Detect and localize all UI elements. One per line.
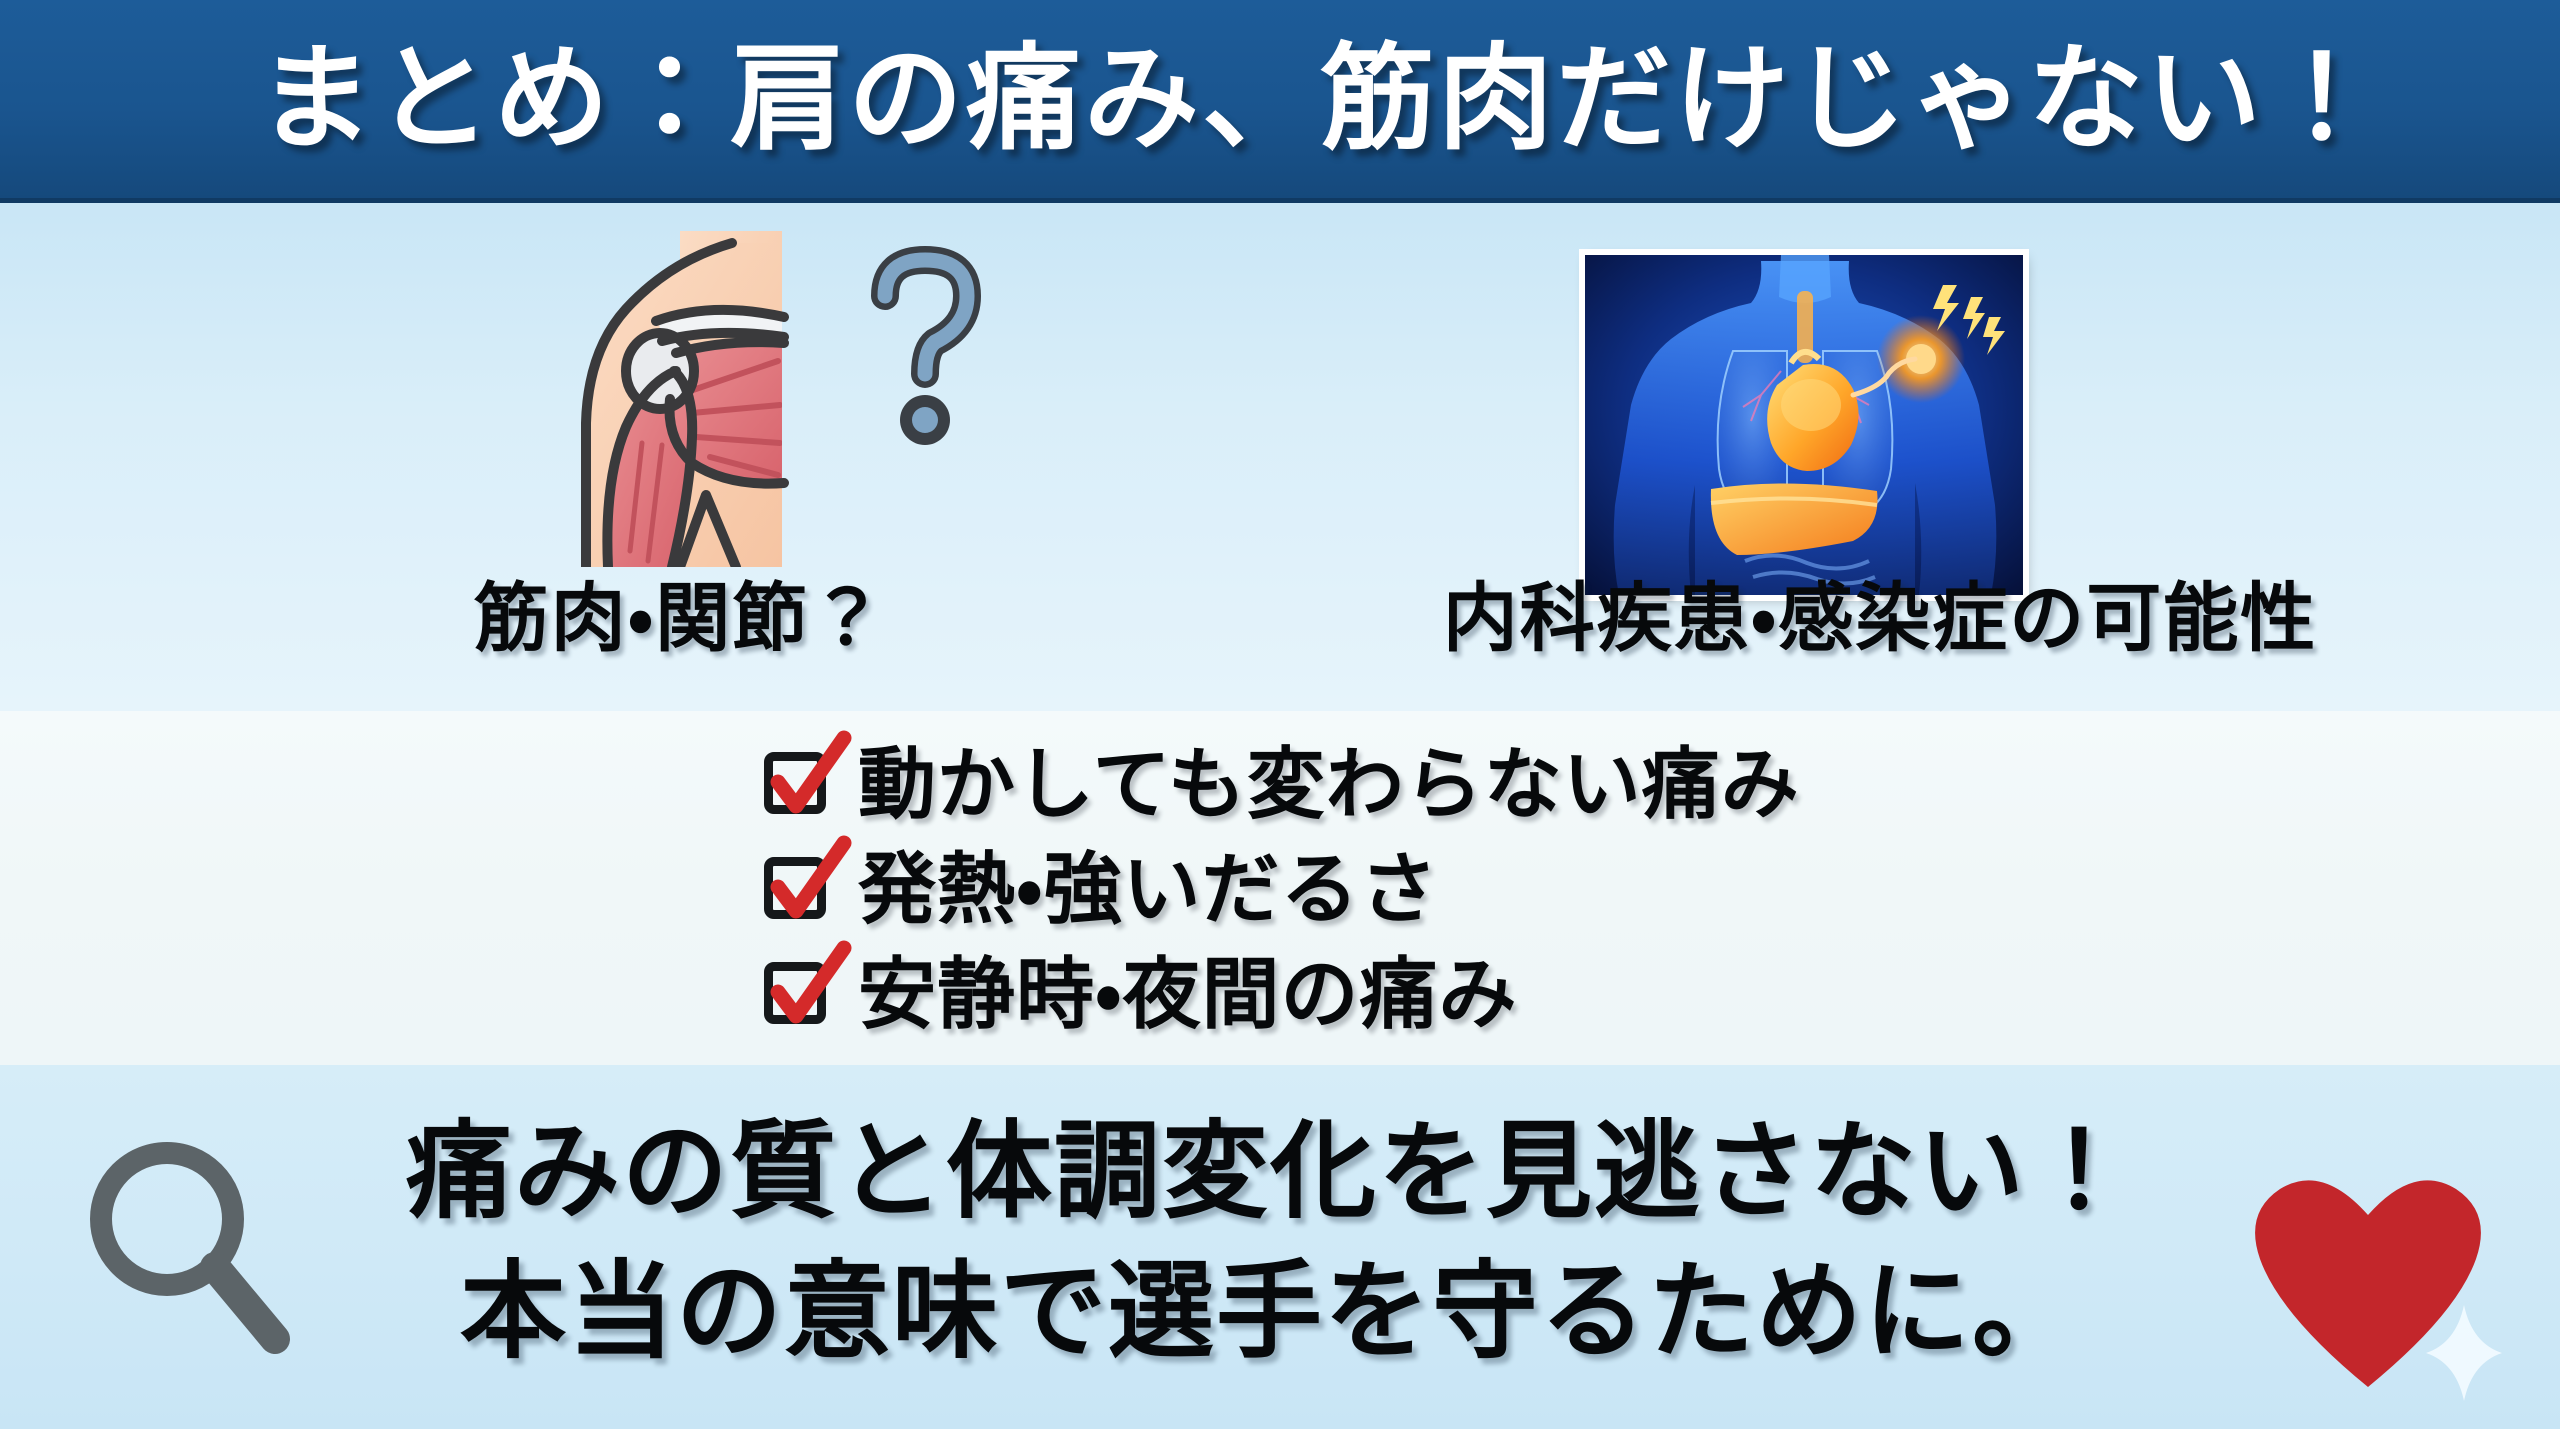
heart-icon: [2240, 1155, 2540, 1405]
shoulder-figure-wrap: [450, 223, 1010, 573]
check-mark-icon: [758, 732, 850, 824]
organ-figure-wrap: [1585, 223, 2025, 573]
slide-header: まとめ：肩の痛み、筋肉だけじゃない！: [0, 0, 2560, 203]
comparison-column-internal: 内科疾患・感染症の可能性: [1300, 203, 2460, 711]
closing-message: 痛みの質と体調変化を見逃さない！ 本当の意味で選手を守るために。: [330, 1103, 2210, 1383]
magnifier-icon: [75, 1127, 305, 1377]
check-mark-icon: [758, 942, 850, 1034]
warning-sign-list: 動かしても変わらない痛み 発熱・強いだるさ 安静時・: [760, 731, 1800, 1046]
question-mark-icon: [855, 238, 1005, 453]
list-item-label: 動かしても変わらない痛み: [858, 745, 1800, 823]
shoulder-anatomy-icon: [530, 231, 860, 567]
checkbox-checked-icon[interactable]: [760, 851, 836, 927]
comparison-section: 筋肉・関節？: [0, 203, 2560, 711]
closing-line-1: 痛みの質と体調変化を見逃さない！: [330, 1103, 2210, 1243]
list-item-label: 安静時・夜間の痛み: [858, 955, 1518, 1033]
checkbox-checked-icon[interactable]: [760, 956, 836, 1032]
check-mark-icon: [758, 837, 850, 929]
caption-internal-disease: 内科疾患・感染症の可能性: [1300, 581, 2460, 656]
comparison-column-musculoskeletal: 筋肉・関節？: [120, 203, 1240, 711]
closing-message-section: 痛みの質と体調変化を見逃さない！ 本当の意味で選手を守るために。: [0, 1065, 2560, 1429]
caption-musculoskeletal: 筋肉・関節？: [120, 581, 1240, 656]
heart-figure-wrap: [2240, 1155, 2540, 1405]
list-item[interactable]: 安静時・夜間の痛み: [760, 941, 1800, 1046]
list-item[interactable]: 動かしても変わらない痛み: [760, 731, 1800, 836]
checklist-section: 動かしても変わらない痛み 発熱・強いだるさ 安静時・: [0, 711, 2560, 1065]
closing-line-2: 本当の意味で選手を守るために。: [330, 1243, 2210, 1383]
list-item[interactable]: 発熱・強いだるさ: [760, 836, 1800, 941]
organ-image-frame: [1585, 255, 2023, 595]
page-title: まとめ：肩の痛み、筋肉だけじゃない！: [258, 42, 2382, 157]
checkbox-checked-icon[interactable]: [760, 746, 836, 822]
human-torso-organs-icon: [1585, 255, 2023, 595]
summary-slide: まとめ：肩の痛み、筋肉だけじゃない！: [0, 0, 2560, 1429]
list-item-label: 発熱・強いだるさ: [858, 850, 1439, 928]
